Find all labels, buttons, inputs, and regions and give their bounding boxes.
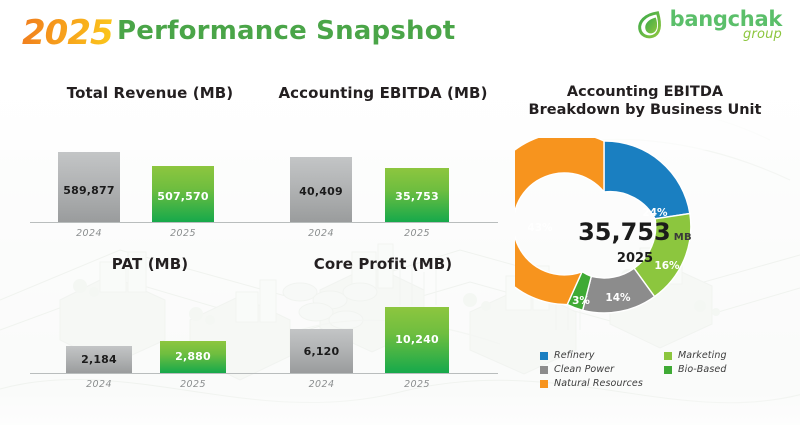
legend-label-bio-based: Bio-Based bbox=[678, 364, 726, 375]
axis-baseline bbox=[268, 222, 498, 223]
bar-value-2025: 10,240 bbox=[385, 333, 449, 346]
bar-category-2024: 2024 bbox=[66, 379, 132, 390]
chart-panel-accounting-ebitda: Accounting EBITDA (MB) 40,409 2024 35,75… bbox=[268, 84, 498, 240]
donut-legend: Refinery Marketing Clean Power Bio-Based… bbox=[540, 350, 780, 389]
bar-category-2025: 2025 bbox=[152, 228, 214, 239]
donut-label-natural-resources: 43% bbox=[527, 222, 553, 234]
legend-swatch-marketing bbox=[664, 352, 672, 360]
bar-category-2024: 2024 bbox=[58, 228, 120, 239]
chart-title: Accounting EBITDA Breakdown by Business … bbox=[497, 84, 793, 119]
chart-title-line2: Breakdown by Business Unit bbox=[529, 102, 762, 118]
bar-value-2024: 589,877 bbox=[58, 184, 120, 197]
chart-panel-total-revenue: Total Revenue (MB) 589,877 2024 507,570 … bbox=[30, 84, 270, 240]
legend-swatch-refinery bbox=[540, 352, 548, 360]
donut-center-year: 2025 bbox=[565, 251, 705, 266]
bar-category-2025: 2025 bbox=[385, 379, 449, 390]
donut-center-unit: MB bbox=[674, 232, 692, 243]
bar-category-2024: 2024 bbox=[290, 228, 352, 239]
legend-item-marketing[interactable]: Marketing bbox=[664, 350, 776, 361]
bar-value-2024: 2,184 bbox=[66, 353, 132, 366]
donut-center-label: 35,753MB 2025 bbox=[565, 218, 705, 266]
donut-label-clean-power: 14% bbox=[605, 292, 631, 304]
leaf-droplet-icon bbox=[636, 10, 666, 40]
bar-value-2024: 6,120 bbox=[290, 345, 353, 358]
chart-panel-core-profit: Core Profit (MB) 6,120 2024 10,240 2025 bbox=[268, 255, 498, 395]
bar-value-2025: 35,753 bbox=[385, 190, 449, 203]
legend-swatch-bio-based bbox=[664, 366, 672, 374]
chart-title: PAT (MB) bbox=[30, 255, 270, 273]
axis-baseline bbox=[30, 222, 270, 223]
legend-label-refinery: Refinery bbox=[554, 350, 595, 361]
bar-value-2025: 507,570 bbox=[152, 190, 214, 203]
chart-title: Accounting EBITDA (MB) bbox=[268, 84, 498, 102]
chart-title-line1: Accounting EBITDA bbox=[567, 84, 723, 100]
legend-item-natural-resources[interactable]: Natural Resources bbox=[540, 378, 652, 389]
legend-swatch-clean-power bbox=[540, 366, 548, 374]
legend-item-bio-based[interactable]: Bio-Based bbox=[664, 364, 776, 375]
axis-baseline bbox=[268, 373, 498, 374]
slide-header: 2025 Performance Snapshot bangchak bbox=[0, 0, 800, 62]
slide-canvas: 2025 Performance Snapshot bangchak bbox=[0, 0, 800, 425]
chart-title: Total Revenue (MB) bbox=[30, 84, 270, 102]
legend-item-clean-power[interactable]: Clean Power bbox=[540, 364, 652, 375]
legend-label-natural-resources: Natural Resources bbox=[554, 378, 643, 389]
legend-label-marketing: Marketing bbox=[678, 350, 727, 361]
chart-title: Core Profit (MB) bbox=[268, 255, 498, 273]
chart-panel-pat: PAT (MB) 2,184 2024 2,880 2025 bbox=[30, 255, 270, 395]
bar-value-2024: 40,409 bbox=[290, 185, 352, 198]
bar-value-2025: 2,880 bbox=[160, 350, 226, 363]
bar-category-2025: 2025 bbox=[385, 228, 449, 239]
donut-center-value: 35,753 bbox=[578, 218, 671, 246]
brand-logo: bangchak group bbox=[636, 9, 782, 41]
legend-item-refinery[interactable]: Refinery bbox=[540, 350, 652, 361]
donut-label-bio-based: 3% bbox=[572, 295, 590, 307]
bar-category-2025: 2025 bbox=[160, 379, 226, 390]
legend-swatch-natural-resources bbox=[540, 380, 548, 388]
axis-baseline bbox=[30, 373, 270, 374]
bar-category-2024: 2024 bbox=[290, 379, 353, 390]
legend-label-clean-power: Clean Power bbox=[554, 364, 614, 375]
page-title: Performance Snapshot bbox=[117, 16, 455, 46]
page-title-year: 2025 bbox=[22, 13, 113, 53]
